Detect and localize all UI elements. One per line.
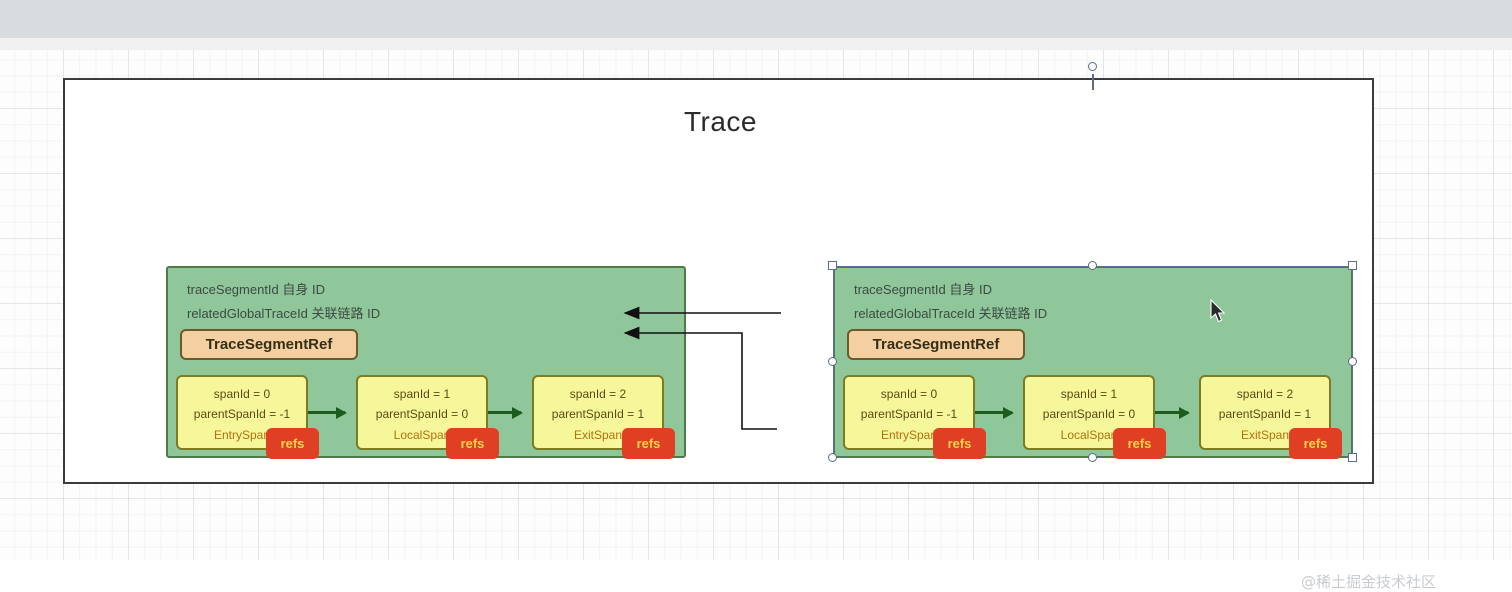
span-id-label: spanId = 0 xyxy=(178,387,306,401)
app-window: Trace traceSegmentId 自身 ID relatedGlobal… xyxy=(0,0,1512,560)
segment-left-refs-badge-local[interactable]: refs xyxy=(446,428,499,459)
resize-handle-top-center[interactable] xyxy=(1088,261,1097,270)
diagram-canvas[interactable]: Trace traceSegmentId 自身 ID relatedGlobal… xyxy=(0,50,1512,560)
page-title: Trace xyxy=(65,106,1376,138)
app-toolbar xyxy=(0,0,1512,39)
segment-left-refs-badge-entry[interactable]: refs xyxy=(266,428,319,459)
rotate-handle-stem xyxy=(1092,74,1094,90)
parent-span-id-label: parentSpanId = 1 xyxy=(534,407,662,421)
mouse-cursor xyxy=(1210,299,1228,325)
resize-handle-bottom-right[interactable] xyxy=(1348,453,1357,462)
site-watermark: @稀土掘金技术社区 xyxy=(1301,571,1436,592)
resize-handle-top-right[interactable] xyxy=(1348,261,1357,270)
resize-handle-bottom-left[interactable] xyxy=(828,453,837,462)
span-id-label: spanId = 1 xyxy=(358,387,486,401)
resize-handle-middle-right[interactable] xyxy=(1348,357,1357,366)
diagram-frame[interactable]: Trace traceSegmentId 自身 ID relatedGlobal… xyxy=(63,78,1374,484)
parent-span-id-label: parentSpanId = -1 xyxy=(178,407,306,421)
segment-left-trace-segment-id: traceSegmentId 自身 ID xyxy=(187,279,325,298)
resize-handle-bottom-center[interactable] xyxy=(1088,453,1097,462)
segment-left-refs-badge-exit[interactable]: refs xyxy=(622,428,675,459)
toolbar-shadow xyxy=(0,38,1512,50)
segment-left-trace-segment-ref-chip[interactable]: TraceSegmentRef xyxy=(180,329,358,360)
trace-segment-left[interactable]: traceSegmentId 自身 ID relatedGlobalTraceI… xyxy=(166,266,686,458)
parent-span-id-label: parentSpanId = 0 xyxy=(358,407,486,421)
segment-left-related-global-trace-id: relatedGlobalTraceId 关联链路 ID xyxy=(187,303,380,322)
span-flow-arrow-local-to-exit xyxy=(488,411,521,414)
span-id-label: spanId = 2 xyxy=(534,387,662,401)
selection-bounding-box xyxy=(833,266,1353,458)
resize-handle-middle-left[interactable] xyxy=(828,357,837,366)
rotate-handle[interactable] xyxy=(1088,62,1097,71)
span-flow-arrow-entry-to-local xyxy=(308,411,345,414)
resize-handle-top-left[interactable] xyxy=(828,261,837,270)
